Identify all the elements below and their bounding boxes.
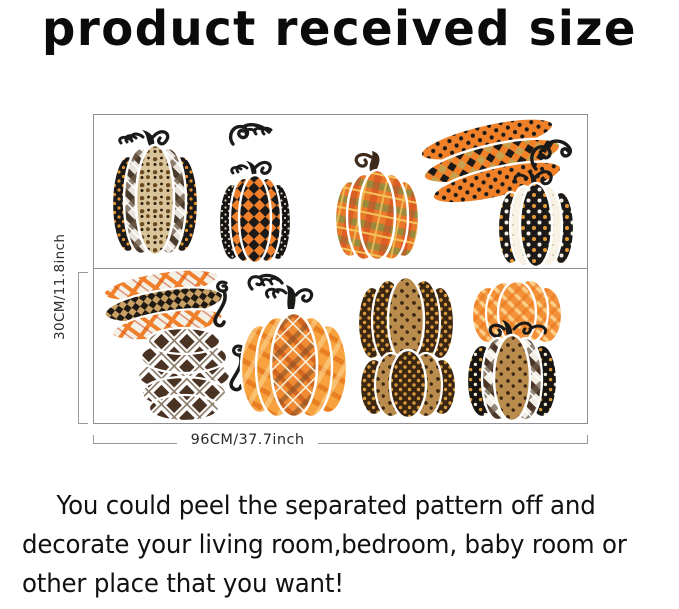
pumpkin-orange-diagonal-plaid-large xyxy=(241,285,347,417)
top-sheet-artwork xyxy=(94,115,588,268)
page-title: product received size xyxy=(10,4,669,54)
bottom-sheet-artwork xyxy=(94,269,588,424)
product-size-diagram: 30CM/11.8inch 96CM/37.7inch xyxy=(0,100,679,470)
height-dimension-line xyxy=(78,272,79,424)
decal-sheet-frame xyxy=(93,114,588,424)
height-dimension-label: 30CM/11.8inch xyxy=(52,234,68,340)
vine-curl-top-mid xyxy=(231,125,271,144)
pumpkin-plaid-leopard-large xyxy=(112,130,198,255)
description-line-3: other place that you want! xyxy=(22,565,636,604)
pumpkin-brown-argyle-round xyxy=(138,328,230,421)
width-dimension-label-text: 96CM/37.7inch xyxy=(177,432,319,448)
description-line-1: You could peel the separated pattern off… xyxy=(22,487,636,526)
height-dimension-tick-bottom xyxy=(79,423,88,424)
pumpkin-buffalo-check xyxy=(219,161,291,263)
pumpkin-leopard-dot-squat xyxy=(360,350,456,418)
vine-curl-bottom-mid xyxy=(249,275,282,289)
decal-sheet-bottom xyxy=(94,269,587,424)
width-dimension-label: 96CM/37.7inch xyxy=(0,432,495,448)
description-line-2: decorate your living room,bedroom, baby … xyxy=(22,526,636,565)
decal-sheet-top xyxy=(94,115,587,268)
height-dimension-tick-top xyxy=(79,272,88,273)
width-dimension-tick-right xyxy=(587,435,588,444)
description-text: You could peel the separated pattern off… xyxy=(22,487,636,604)
pumpkin-orange-plaid xyxy=(335,151,419,260)
